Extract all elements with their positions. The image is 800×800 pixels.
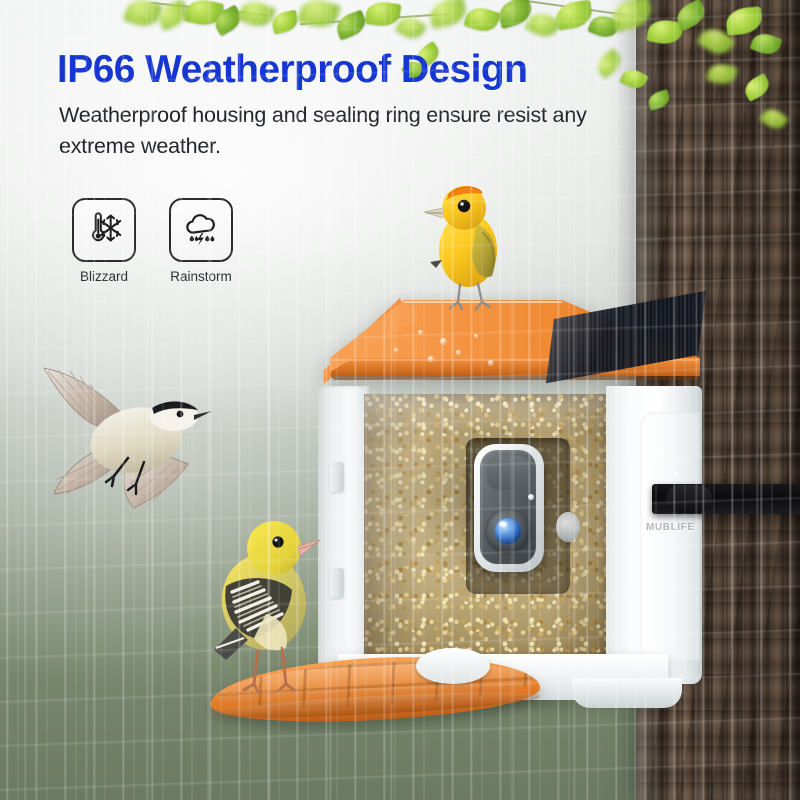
base-foot (572, 678, 682, 708)
brand-logo: MUBLIFE (646, 522, 695, 533)
tray-hub (416, 648, 490, 684)
camera-sensor-window (487, 456, 529, 490)
lens-glint (499, 521, 507, 527)
water-droplet (418, 330, 423, 335)
water-droplet (394, 348, 398, 352)
water-droplet (474, 334, 478, 338)
cloud-rain-lightning-icon (181, 208, 221, 253)
strap-buckle (666, 485, 712, 513)
bark-shadow-edge (782, 0, 800, 800)
feature-badge-rainstorm: Rainstorm (169, 198, 233, 284)
pir-sensor (556, 512, 580, 542)
goldfinch-bird (192, 498, 354, 698)
panel-clip (330, 462, 344, 492)
thermometer-snowflake-icon (84, 208, 124, 253)
right-panel-inset (640, 412, 700, 660)
water-droplet (440, 338, 447, 345)
badge-label: Rainstorm (170, 269, 232, 284)
water-droplet (674, 472, 679, 477)
page-title: IP66 Weatherproof Design (57, 48, 527, 92)
water-droplet (658, 450, 664, 456)
yellow-canary-bird (412, 168, 532, 313)
water-droplet (456, 350, 461, 355)
water-droplet (428, 356, 434, 362)
water-droplet (488, 360, 494, 366)
feature-badge-list: Blizzard Rai (72, 198, 233, 284)
tree-mount-strap (652, 484, 800, 514)
feature-badge-blizzard: Blizzard (72, 198, 136, 284)
status-led (528, 494, 534, 500)
badge-label: Blizzard (80, 269, 128, 284)
badge-icon-frame (169, 198, 233, 262)
product-feature-image: IP66 Weatherproof Design Weatherproof ho… (0, 0, 800, 800)
badge-icon-frame (72, 198, 136, 262)
page-subtitle: Weatherproof housing and sealing ring en… (59, 100, 619, 161)
